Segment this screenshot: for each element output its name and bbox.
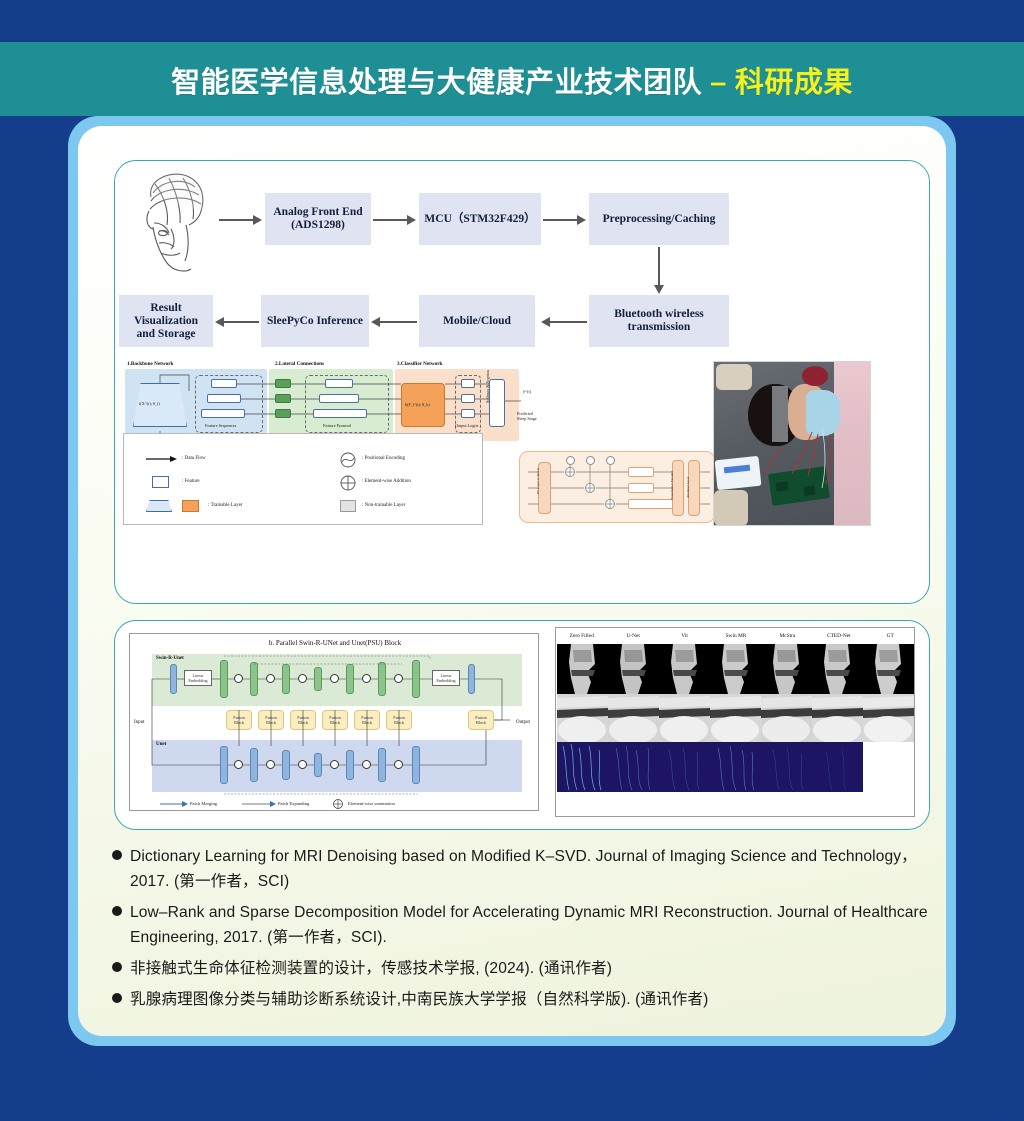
figure-panel-bottom: b. Parallel Swin-R-UNet and Unet(PSU) Bl… xyxy=(114,620,930,830)
eeg-subject-photo xyxy=(713,361,871,526)
mri-cell xyxy=(710,694,761,742)
psu-sum-swin-4 xyxy=(330,674,339,683)
sleepyco-section-label-lateral: 2.Lateral Connections xyxy=(275,361,324,367)
mri-cell xyxy=(608,644,659,694)
bullet-icon xyxy=(112,906,122,916)
sleepyco-lateral-g1 xyxy=(275,409,291,418)
sleepyco-classifier-fn-label: h(F_l^(t); θ_h) xyxy=(405,402,430,407)
psu-unet-conv-4 xyxy=(314,753,322,777)
psu-sum-swin-3 xyxy=(298,674,307,683)
mri-cell xyxy=(761,694,812,742)
mri-column-header: Vit xyxy=(659,628,710,644)
sleepyco-section-label-backbone: 1.Backbone Network xyxy=(127,361,173,367)
flow-node-bluetooth: Bluetooth wirelesstransmission xyxy=(589,295,729,347)
psu-strb-2 xyxy=(250,662,258,696)
mri-column-header: McStra xyxy=(762,628,813,644)
figure-panel-top: Analog Front End(ADS1298) MCU（STM32F429）… xyxy=(114,160,930,604)
publication-text: 非接触式生命体征检测装置的设计，传感技术学报, (2024). (通讯作者) xyxy=(130,956,612,981)
content-card-inner: Analog Front End(ADS1298) MCU（STM32F429）… xyxy=(78,126,946,1036)
sleepyco-lateral-g3 xyxy=(275,379,291,388)
sleepyco-legend: : Data Flow : Feature : Trainable Layer … xyxy=(123,433,483,525)
psu-linear-embedding-in: LinearEmbedding xyxy=(184,670,212,686)
sleepyco-feature-sequences-label: Feature Sequences xyxy=(205,423,236,428)
psu-input-label: Input xyxy=(134,720,145,725)
legend-item-trainable-layer: : Trainable Layer xyxy=(208,503,242,508)
flow-node-label: Result Visualizationand Storage xyxy=(123,302,209,341)
bullet-icon xyxy=(112,962,122,972)
psu-output-label: Output xyxy=(516,720,530,725)
psu-swin-label: Swin-R-Unet xyxy=(156,656,184,661)
page-title-accent: 科研成果 xyxy=(735,67,853,99)
flow-arrowhead-5 xyxy=(541,317,550,327)
mri-row-zoom xyxy=(557,694,914,742)
flow-arrowhead-7 xyxy=(215,317,224,327)
publications-list: Dictionary Learning for MRI Denoising ba… xyxy=(112,844,942,1018)
flow-node-mcu: MCU（STM32F429） xyxy=(419,193,541,245)
psu-legend-elementwise-sum: Element-wise summation xyxy=(348,801,395,806)
mri-cell xyxy=(659,742,710,792)
psu-sum-swin-6 xyxy=(394,674,403,683)
tf-transformer-encoder-label: Transformer Encoder xyxy=(670,471,674,500)
mri-cell xyxy=(761,742,812,792)
publication-text: Dictionary Learning for MRI Denoising ba… xyxy=(130,844,942,894)
sleepyco-feature-c1 xyxy=(201,409,245,418)
publication-item: Low–Rank and Sparse Decomposition Model … xyxy=(112,900,942,950)
flow-arrow-prep-to-bt xyxy=(658,247,660,285)
psu-sum-unet-5 xyxy=(362,760,371,769)
sleepyco-logit-o1 xyxy=(461,409,475,418)
psu-conv-f xyxy=(170,664,177,694)
legend-item-non-trainable-layer: : Non-trainable Layer xyxy=(362,503,405,508)
legend-trainable-trapezoid-icon xyxy=(146,500,172,512)
mri-column-header: Swin MR xyxy=(710,628,761,644)
mri-column-header: Zero Filled xyxy=(556,628,607,644)
poster-root: 智能医学信息处理与大健康产业技术团队–科研成果 xyxy=(0,0,1024,1121)
flow-arrow-cloud-to-infer xyxy=(377,321,417,323)
sleepyco-predicted-symbol: ŷ^(t) xyxy=(523,389,531,394)
flow-arrowhead-6 xyxy=(371,317,380,327)
flow-node-label: Bluetooth wirelesstransmission xyxy=(614,308,704,334)
psu-block-diagram: b. Parallel Swin-R-UNet and Unet(PSU) Bl… xyxy=(129,633,539,811)
head-eeg-cap-icon xyxy=(131,167,215,275)
system-flowchart: Analog Front End(ADS1298) MCU（STM32F429）… xyxy=(115,161,930,371)
sleepyco-backbone-fn-label: f(X^(t); θ_f) xyxy=(139,401,160,406)
flow-node-sleepyco-inference: SleePyCo Inference xyxy=(261,295,369,347)
sleepyco-section-label-classifier: 3.Classifier Network xyxy=(397,361,442,367)
sleepyco-pyramid-f2 xyxy=(319,394,359,403)
flow-node-label: MCU（STM32F429） xyxy=(424,213,535,226)
sleepyco-softmax-label: Softmax & Argmax xyxy=(485,370,490,403)
sleepyco-predicted-label: PredictedSleep Stage xyxy=(517,411,537,421)
psu-unet-conv-6 xyxy=(378,748,386,782)
tf-feature-box-3 xyxy=(628,499,678,509)
flow-node-label: SleePyCo Inference xyxy=(267,315,363,328)
publication-item: 非接触式生命体征检测装置的设计，传感技术学报, (2024). (通讯作者) xyxy=(112,956,942,981)
psu-sum-unet-6 xyxy=(394,760,403,769)
psu-legend-patch-expanding: Patch Expanding xyxy=(278,801,309,806)
sleepyco-lateral-g2 xyxy=(275,394,291,403)
publication-text: 乳腺病理图像分类与辅助诊断系统设计,中南民族大学学报（自然科学版). (通讯作者… xyxy=(130,987,708,1012)
mri-cell xyxy=(812,742,863,792)
flow-node-result-visualization: Result Visualizationand Storage xyxy=(119,295,213,347)
mri-cell xyxy=(710,644,761,694)
flow-node-label: Mobile/Cloud xyxy=(443,315,511,328)
psu-legend-patch-merging: Patch Merging xyxy=(190,801,217,806)
psu-title: b. Parallel Swin-R-UNet and Unet(PSU) Bl… xyxy=(130,639,540,647)
flow-arrow-bt-to-cloud xyxy=(547,321,587,323)
psu-strb-3 xyxy=(282,664,290,694)
psu-unet-conv-3 xyxy=(282,750,290,780)
sleepyco-logit-o3 xyxy=(461,379,475,388)
mri-row-slices xyxy=(557,644,914,694)
publication-item: Dictionary Learning for MRI Denoising ba… xyxy=(112,844,942,894)
mri-cell xyxy=(863,644,914,694)
page-title: 智能医学信息处理与大健康产业技术团队–科研成果 xyxy=(171,59,853,101)
psu-sum-swin-5 xyxy=(362,674,371,683)
mri-cell xyxy=(812,694,863,742)
flow-arrow-infer-to-result xyxy=(221,321,259,323)
sleepyco-logit-o2 xyxy=(461,394,475,403)
psu-fusion-block-1: FusionBlock xyxy=(226,710,252,730)
psu-strb-1 xyxy=(220,660,228,698)
mri-row-error-maps xyxy=(557,742,863,792)
psu-fusion-block-3: FusionBlock xyxy=(290,710,316,730)
flow-arrowhead-4 xyxy=(654,285,664,294)
flow-node-label: Analog Front End(ADS1298) xyxy=(273,206,362,232)
mri-column-header: CTED-Net xyxy=(813,628,864,644)
mri-cell xyxy=(557,694,608,742)
flow-arrow-afe-to-mcu xyxy=(373,219,407,221)
psu-sum-unet-1 xyxy=(234,760,243,769)
page-title-main: 智能医学信息处理与大健康产业技术团队 xyxy=(171,67,702,99)
mri-column-header: U-Net xyxy=(607,628,658,644)
legend-item-data-flow: : Data Flow xyxy=(182,456,206,461)
psu-sum-unet-3 xyxy=(298,760,307,769)
photo-electrode-wires xyxy=(714,362,871,526)
psu-fusion-block-5: FusionBlock xyxy=(354,710,380,730)
psu-unet-conv-1 xyxy=(220,746,228,784)
mri-column-header: GT xyxy=(865,628,916,644)
psu-fusion-block-2: FusionBlock xyxy=(258,710,284,730)
sleepyco-output-logits-label: Output Logits xyxy=(455,423,478,428)
flow-node-analog-front-end: Analog Front End(ADS1298) xyxy=(265,193,371,245)
legend-non-trainable-icon xyxy=(340,500,356,512)
psu-fusion-block-out: FusionBlock xyxy=(468,710,494,730)
mri-cell xyxy=(812,644,863,694)
flow-arrowhead-2 xyxy=(407,215,416,225)
tf-feature-box-2 xyxy=(628,483,654,493)
sleepyco-softmax-argmax-block xyxy=(489,379,505,427)
mri-cell xyxy=(863,694,914,742)
psu-linear-embedding-out: LinearEmbedding xyxy=(432,670,460,686)
header-title-wrap: 智能医学信息处理与大健康产业技术团队–科研成果 xyxy=(0,42,1024,118)
mri-comparison-grid: Zero Filled U-Net Vit Swin MR McStra CTE… xyxy=(555,627,915,817)
legend-elementwise-addition-icon xyxy=(340,475,356,491)
mri-column-headers: Zero Filled U-Net Vit Swin MR McStra CTE… xyxy=(556,628,916,644)
sleepyco-feature-c3 xyxy=(211,379,237,388)
publication-text: Low–Rank and Sparse Decomposition Model … xyxy=(130,900,942,950)
legend-trainable-orange-icon xyxy=(182,500,199,512)
psu-unet-conv-5 xyxy=(346,750,354,780)
psu-strb-5 xyxy=(346,664,354,694)
psu-strb-4 xyxy=(314,667,322,691)
bullet-icon xyxy=(112,850,122,860)
sleepyco-pyramid-f3 xyxy=(325,379,353,388)
transformer-encoder-figure: FC Layer w/ ReLU xyxy=(519,451,715,523)
mri-cell xyxy=(710,742,761,792)
flow-arrow-mcu-to-prep xyxy=(543,219,577,221)
psu-fusion-block-4: FusionBlock xyxy=(322,710,348,730)
content-card: Analog Front End(ADS1298) MCU（STM32F429）… xyxy=(68,116,956,1046)
flow-node-mobile-cloud: Mobile/Cloud xyxy=(419,295,535,347)
psu-conv-l xyxy=(468,664,475,694)
mri-cell xyxy=(659,644,710,694)
mri-cell xyxy=(659,694,710,742)
page-title-dash: – xyxy=(710,67,727,99)
flow-arrowhead-1 xyxy=(253,215,262,225)
psu-strb-6 xyxy=(378,662,386,696)
flow-node-preprocessing: Preprocessing/Caching xyxy=(589,193,729,245)
psu-sum-swin-1 xyxy=(234,674,243,683)
mri-cell xyxy=(608,742,659,792)
legend-feature-icon xyxy=(152,476,169,488)
tf-attention-layer-label: Attention Layer xyxy=(686,476,690,498)
psu-unet-label: Unet xyxy=(156,742,166,747)
flow-arrowhead-3 xyxy=(577,215,586,225)
mri-cell xyxy=(557,742,608,792)
sleepyco-pyramid-f1 xyxy=(313,409,367,418)
legend-item-positional-encoding: : Positional Encoding xyxy=(362,456,405,461)
bullet-icon xyxy=(112,993,122,1003)
psu-unet-conv-2 xyxy=(250,748,258,782)
psu-sum-swin-2 xyxy=(266,674,275,683)
psu-unet-conv-7 xyxy=(412,746,420,784)
publication-item: 乳腺病理图像分类与辅助诊断系统设计,中南民族大学学报（自然科学版). (通讯作者… xyxy=(112,987,942,1012)
sleepyco-feature-c2 xyxy=(207,394,241,403)
legend-arrow-icon xyxy=(146,455,178,463)
legend-item-feature: : Feature xyxy=(182,479,200,484)
mri-cell xyxy=(761,644,812,694)
mri-cell xyxy=(557,644,608,694)
psu-strb-7 xyxy=(412,660,420,698)
sleepyco-feature-pyramid-label: Feature Pyramid xyxy=(323,423,351,428)
legend-item-elementwise-addition: : Element-wise Addition xyxy=(362,479,411,484)
psu-sum-unet-2 xyxy=(266,760,275,769)
psu-fusion-block-6: FusionBlock xyxy=(386,710,412,730)
flow-node-label: Preprocessing/Caching xyxy=(603,213,716,226)
mri-cell xyxy=(608,694,659,742)
psu-sum-unet-4 xyxy=(330,760,339,769)
flow-arrow-head-to-afe xyxy=(219,219,253,221)
tf-feature-box-1 xyxy=(628,467,654,477)
legend-positional-encoding-icon xyxy=(340,452,356,468)
